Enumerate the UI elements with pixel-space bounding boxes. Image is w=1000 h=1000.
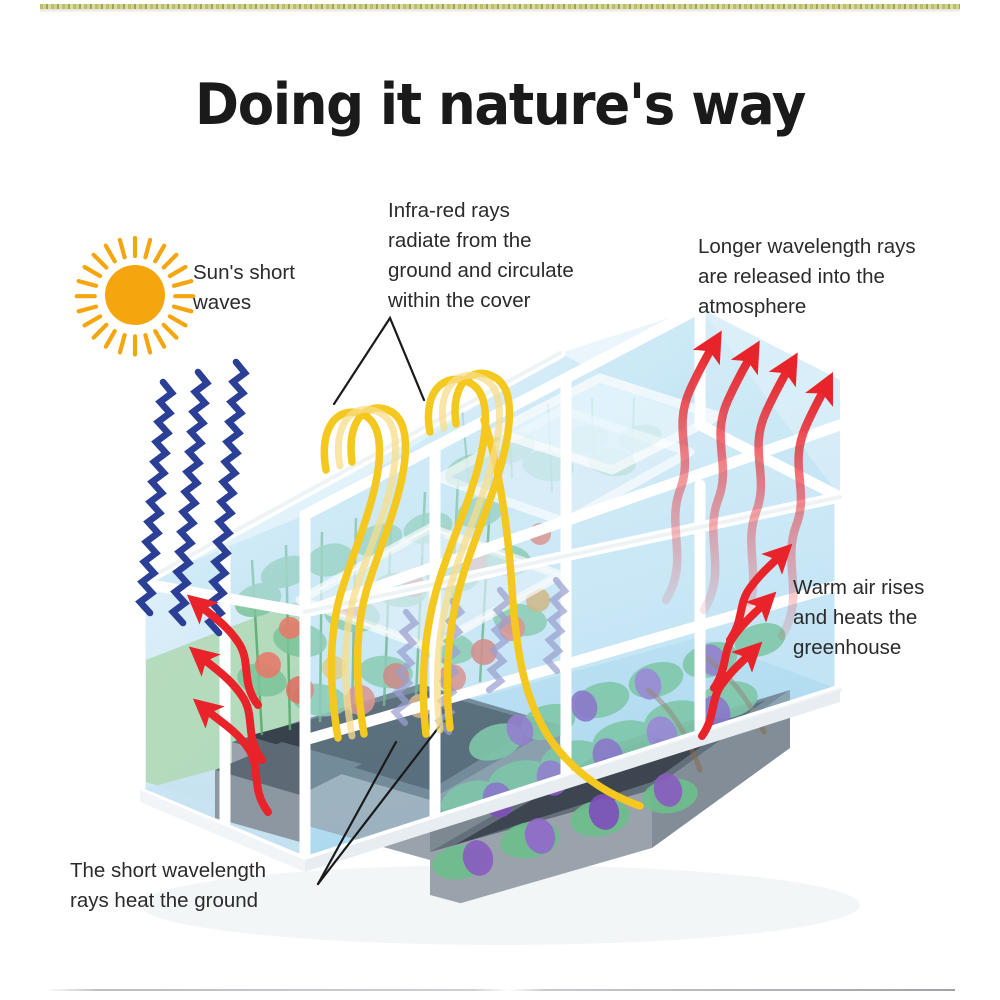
annotation-sun-short-waves: Sun's short waves: [193, 258, 353, 318]
internal-warm-arrows-left: [198, 604, 268, 812]
ray-overlays: [0, 0, 1000, 1000]
annotation-warm-air-rises: Warm air rises and heats the greenhouse: [793, 573, 978, 663]
infrared-rays-echo: [338, 375, 499, 736]
annotation-infra-red-rays: Infra-red rays radiate from the ground a…: [388, 196, 603, 316]
bottom-divider: [45, 989, 955, 991]
short-wave-rays: [140, 362, 245, 633]
annotation-longer-wavelength: Longer wavelength rays are released into…: [698, 232, 948, 322]
infrared-circulation-rays: [324, 373, 640, 806]
diagram-canvas: Doing it nature's way: [0, 0, 1000, 1000]
annotation-short-wavelength-ground: The short wavelength rays heat the groun…: [70, 856, 315, 916]
